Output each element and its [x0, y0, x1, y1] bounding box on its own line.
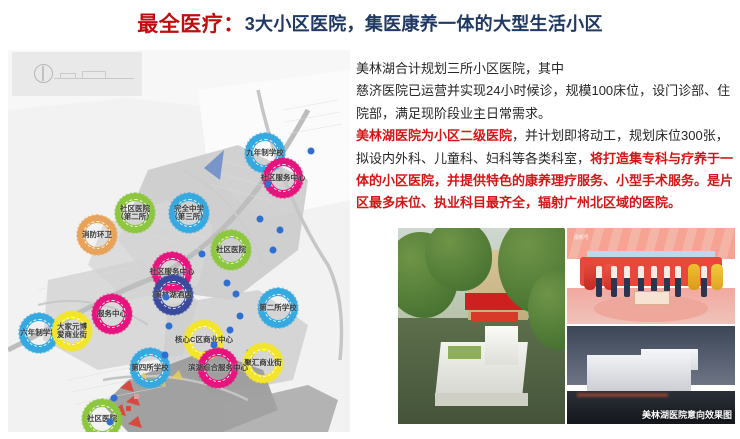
map-pin-label: 大家元博爱商业街	[57, 323, 87, 339]
map-pin-label: 社区医院	[216, 246, 246, 254]
paragraph-3: 美林湖医院为小区二级医院，并计划即将动工，规划床位300张，拟设内外科、儿童科、…	[356, 125, 738, 215]
compass-icon	[34, 64, 53, 83]
opening-ceremony-photo[interactable]: 视频号	[567, 228, 735, 324]
photo-gallery: 视频号 美林湖医院意向效果图	[398, 228, 735, 424]
map-pin[interactable]: 滨湖综合服务中心	[198, 348, 238, 388]
map-pin[interactable]: 社区医院（第二所）	[115, 193, 155, 233]
page-title: 最全医疗：3大小区医院，集医康养一体的大型生活小区	[0, 8, 740, 42]
map-pin[interactable]: 聚汇商业街	[243, 343, 283, 383]
map-pin-label: 完全中学（第三所）	[170, 205, 208, 221]
map-pin[interactable]: 社区服务中心	[263, 158, 303, 198]
map-dot-marker	[224, 280, 231, 287]
hospital-street-photo[interactable]	[398, 228, 565, 424]
scale-bar-icon	[54, 78, 134, 79]
map-dot-marker	[227, 327, 234, 334]
map-dot-marker	[308, 148, 315, 155]
map-pin-label: 消防环卫	[82, 231, 112, 239]
map-dot-marker	[265, 181, 272, 188]
map-pin[interactable]: 大家元博爱商业街	[52, 311, 92, 351]
map-pin[interactable]: 完全中学（第三所）	[169, 193, 209, 233]
map-pin-label: 滨湖综合服务中心	[188, 364, 248, 372]
map-base-illustration	[8, 50, 350, 432]
map-dot-marker	[107, 419, 114, 426]
map-dot-marker	[270, 247, 277, 254]
map-pin[interactable]: 社区医院	[82, 399, 122, 432]
map-dot-marker	[199, 251, 206, 258]
map-dot-marker	[162, 352, 169, 359]
map-dot-marker	[211, 342, 218, 349]
paragraph-1: 美林湖合计规划三所小区医院，其中	[356, 58, 738, 80]
map-pin-label: 服务中心	[97, 310, 127, 318]
site-plan-map[interactable]: 九年制学校社区服务中心社区医院（第二所）完全中学（第三所）消防环卫社区医院社区服…	[8, 50, 350, 432]
photo-caption: 美林湖医院意向效果图	[642, 408, 732, 421]
map-pin-label: 社区医院（第二所）	[116, 205, 154, 221]
map-pin[interactable]: 第二所学校	[258, 288, 298, 328]
page-title-red: 最全医疗：	[137, 13, 245, 36]
paragraph-2: 慈济医院已运营并实现24小时候诊，规模100床位，设门诊部、住院部，满足现阶段业…	[356, 80, 738, 125]
map-pin[interactable]: 美林湖酒店	[153, 275, 193, 315]
map-legend	[12, 52, 142, 96]
map-dot-marker	[163, 294, 170, 301]
map-dot-marker	[277, 227, 284, 234]
description-text: 美林湖合计规划三所小区医院，其中 慈济医院已运营并实现24小时候诊，规模100床…	[356, 58, 738, 215]
map-pin[interactable]: 社区医院	[211, 230, 251, 270]
map-dot-marker	[111, 395, 118, 402]
page-title-blue: 3大小区医院，集医康养一体的大型生活小区	[245, 14, 603, 34]
highlight-hospital-grade: 美林湖医院为小区二级医院	[356, 128, 512, 143]
map-pin[interactable]: 服务中心	[92, 294, 132, 334]
map-dot-marker	[237, 313, 244, 320]
map-pin[interactable]: 消防环卫	[77, 215, 117, 255]
map-pin-label: 第二所学校	[259, 304, 297, 312]
map-pin-label: 核心C区商业中心	[175, 336, 233, 344]
map-dot-marker	[233, 291, 240, 298]
map-pin-label: 九年制学校	[246, 149, 284, 157]
hospital-render-photo[interactable]: 美林湖医院意向效果图	[567, 326, 735, 424]
map-pin-label: 第四所学校	[131, 364, 169, 372]
map-pin-label: 美林湖酒店	[154, 291, 192, 299]
video-watermark: 视频号	[574, 234, 589, 241]
map-dot-marker	[257, 216, 264, 223]
map-dot-marker	[166, 323, 173, 330]
map-pin-label: 聚汇商业街	[244, 359, 282, 367]
